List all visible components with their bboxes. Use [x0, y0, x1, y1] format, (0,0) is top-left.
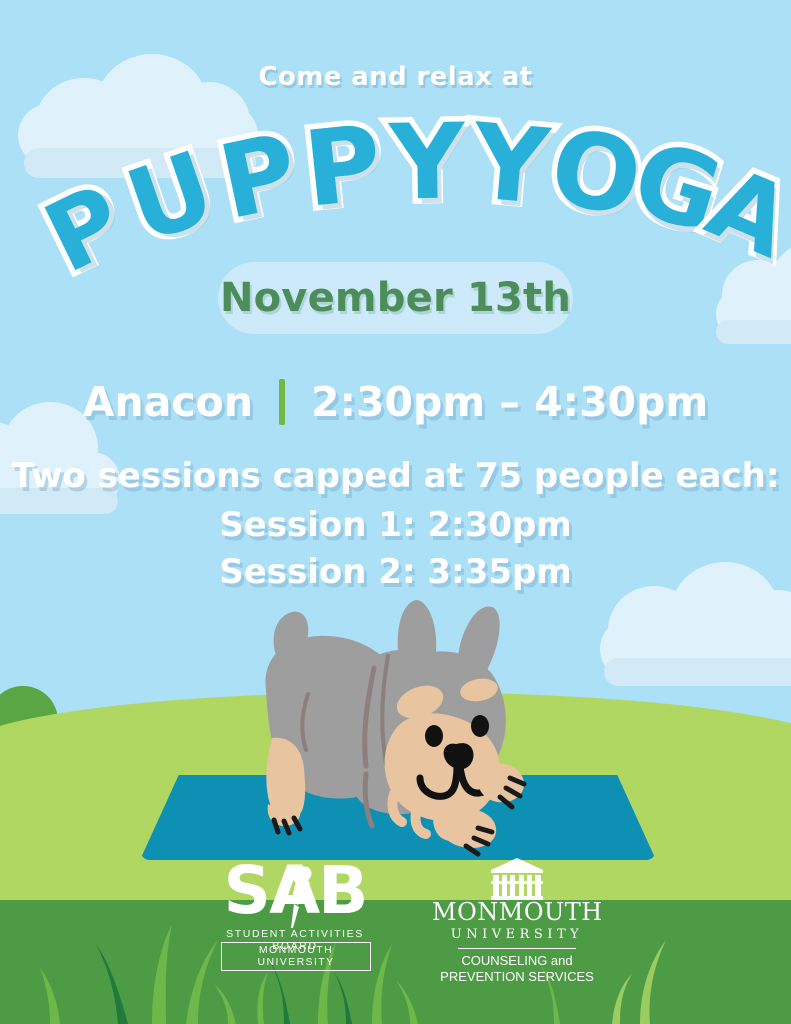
logo-divider: [458, 948, 576, 949]
grass-blades: [0, 900, 791, 1024]
title-letter: U: [116, 137, 225, 258]
title-letter: Y: [468, 109, 552, 219]
microphone-icon: [281, 864, 315, 930]
time-range: 2:30pm – 4:30pm: [311, 378, 708, 426]
venue-name: Anacon: [83, 378, 253, 426]
monmouth-university-word: UNIVERSITY: [432, 928, 602, 941]
vertical-divider: [279, 379, 285, 425]
session-1-text: Session 1: 2:30pm: [0, 505, 791, 545]
date-text: November 13th: [220, 275, 571, 321]
monmouth-logo: MONMOUTH UNIVERSITY COUNSELING and PREVE…: [432, 858, 602, 968]
wilson-hall-building-icon: [487, 856, 547, 900]
puppy-downward-dog-illustration: [248, 598, 558, 863]
kicker-text: Come and relax at: [0, 62, 791, 92]
sab-institution: MONMOUTH UNIVERSITY: [221, 942, 371, 971]
venue-time-row: Anacon 2:30pm – 4:30pm: [0, 378, 791, 426]
monmouth-name: MONMOUTH: [432, 900, 602, 924]
title-letter: Y: [389, 109, 466, 214]
page-title: P U P P Y Y O G A: [0, 128, 791, 263]
department-line-2: PREVENTION SERVICES: [432, 970, 602, 985]
department-line-1: COUNSELING and: [432, 954, 602, 969]
sab-logo: SAB STUDENT ACTIVITIES BOARD MONMOUTH UN…: [205, 862, 385, 967]
session-2-text: Session 2: 3:35pm: [0, 552, 791, 592]
date-badge: November 13th: [218, 262, 573, 334]
title-letter: P: [212, 120, 306, 235]
capacity-note: Two sessions capped at 75 people each:: [0, 456, 791, 496]
puppy-yoga-poster: Come and relax at P U P P Y Y O G A Nove…: [0, 0, 791, 1024]
title-letter: P: [300, 110, 387, 221]
